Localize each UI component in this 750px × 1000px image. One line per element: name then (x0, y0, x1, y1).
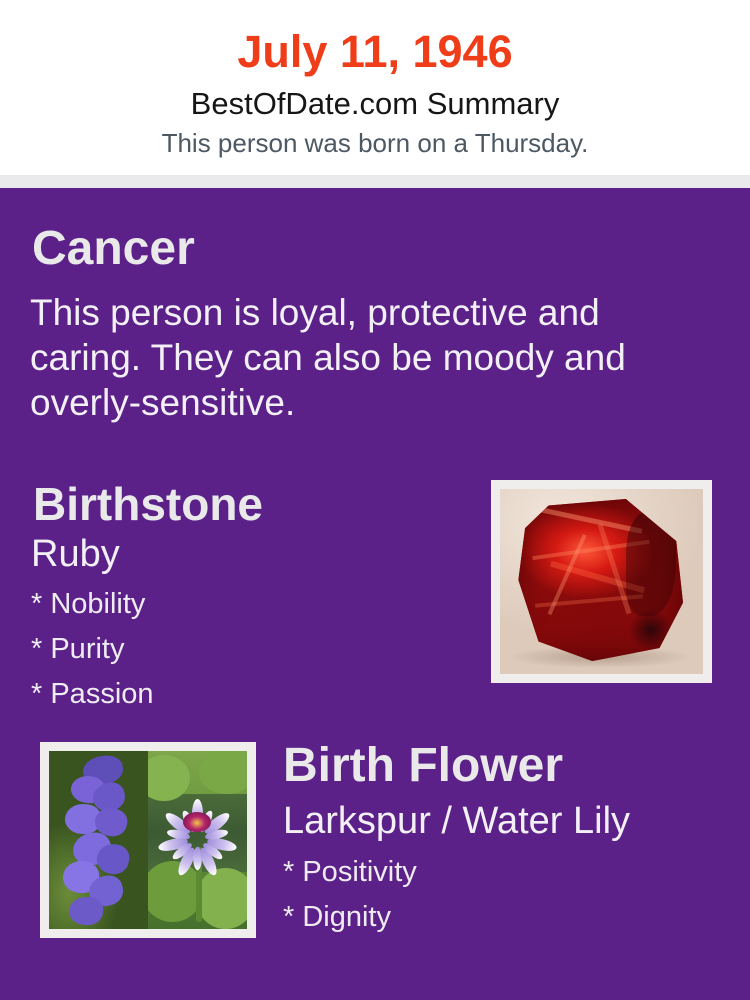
list-item: * Purity (31, 627, 451, 672)
birth-weekday-text: This person was born on a Thursday. (0, 128, 750, 158)
ruby-facet-line (539, 508, 642, 535)
water-lily-bloom (164, 790, 231, 858)
summary-card: July 11, 1946 BestOfDate.com Summary Thi… (0, 0, 750, 1000)
birthstone-trait-list: * Nobility * Purity * Passion (31, 582, 451, 717)
flower-photo-pair (49, 751, 247, 929)
ruby-shade (629, 609, 673, 651)
birthstone-heading: Birthstone (33, 478, 263, 530)
page-title-date: July 11, 1946 (0, 26, 750, 78)
lily-pad (196, 868, 247, 929)
details-panel: Cancer This person is loyal, protective … (0, 188, 750, 1000)
ruby-shade (626, 512, 676, 616)
list-item: * Nobility (31, 582, 451, 627)
water-lily-photo (148, 751, 247, 929)
birth-flower-trait-list: * Positivity * Dignity (283, 850, 683, 940)
site-name: BestOfDate.com Summary (0, 86, 750, 122)
birthstone-image-frame (491, 480, 712, 683)
larkspur-photo (49, 751, 148, 929)
ruby-photo (500, 489, 703, 674)
list-item: * Positivity (283, 850, 683, 895)
ruby-crystal (515, 499, 683, 661)
list-item: * Dignity (283, 895, 683, 940)
birthstone-name: Ruby (31, 532, 120, 576)
list-item: * Passion (31, 672, 451, 717)
zodiac-sign-heading: Cancer (32, 221, 195, 277)
zodiac-description: This person is loyal, protective and car… (30, 290, 660, 425)
birth-flower-name: Larkspur / Water Lily (283, 799, 630, 843)
birth-flower-heading: Birth Flower (283, 738, 563, 794)
lily-pad (199, 751, 247, 794)
birth-flower-image-frame (40, 742, 256, 938)
card-header: July 11, 1946 BestOfDate.com Summary Thi… (0, 0, 750, 175)
larkspur-bloom (68, 896, 104, 927)
header-divider (0, 175, 750, 188)
